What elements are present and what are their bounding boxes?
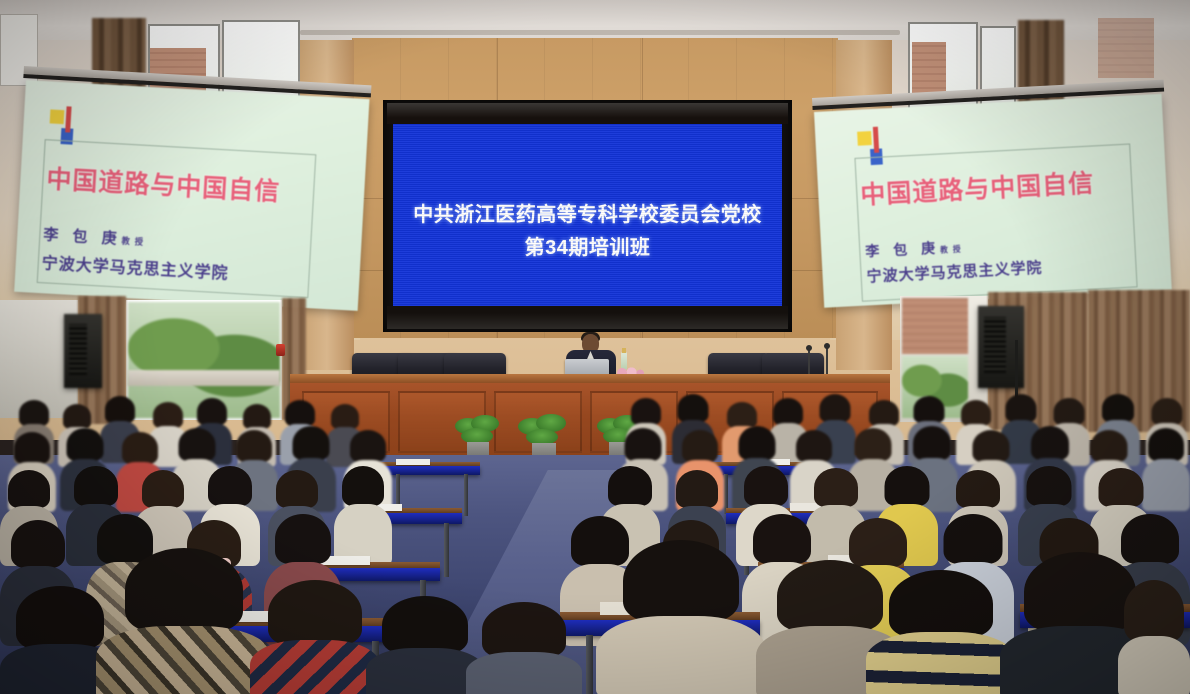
lecture-hall-photo: 中国道路与中国自信 李 包 庚教授 宁波大学马克思主义学院 中国道路与中国自信 … — [0, 0, 1190, 694]
paper-on-desk — [396, 459, 430, 465]
exterior-brick-right — [912, 42, 946, 94]
audience-person — [334, 466, 392, 562]
outdoor-path-left — [128, 370, 280, 386]
slide-author-rank-right: 教授 — [940, 244, 966, 254]
main-led-display: 中共浙江医药高等专科学校委员会党校 第34期培训班 — [393, 124, 782, 306]
desk-leg — [464, 474, 468, 516]
dais-counter-top — [290, 374, 890, 383]
audience-person — [466, 602, 582, 694]
audience-person — [250, 580, 380, 694]
slide-author-name-left: 李 包 庚 — [43, 226, 122, 247]
desk-leg — [586, 635, 593, 694]
desk-leg — [444, 523, 449, 577]
right-projection-screen: 中国道路与中国自信 李 包 庚教授 宁波大学马克思主义学院 — [814, 94, 1172, 308]
exterior-brick-right-2 — [1098, 18, 1154, 78]
led-bezel-bottom — [387, 306, 788, 329]
slide-author-name-right: 李 包 庚 — [865, 240, 941, 260]
led-bezel-top — [387, 103, 788, 124]
audience-person — [1118, 580, 1190, 694]
outdoor-brick-right — [902, 298, 968, 354]
led-screen-frame: 中共浙江医药高等专科学校委员会党校 第34期培训班 — [383, 100, 792, 332]
left-projection-screen: 中国道路与中国自信 李 包 庚教授 宁波大学马克思主义学院 — [14, 80, 369, 311]
audience-person — [96, 548, 272, 694]
audience-person — [866, 570, 1016, 694]
led-text-line1: 中共浙江医药高等专科学校委员会党校 — [413, 198, 762, 227]
audience-person — [596, 540, 766, 694]
wall-speaker-left — [64, 314, 102, 388]
fire-alarm-icon — [276, 344, 285, 356]
ceiling-light-strip — [300, 30, 900, 35]
slide-author-rank-left: 教授 — [121, 237, 148, 247]
led-text-line2: 第34期培训班 — [525, 231, 651, 260]
